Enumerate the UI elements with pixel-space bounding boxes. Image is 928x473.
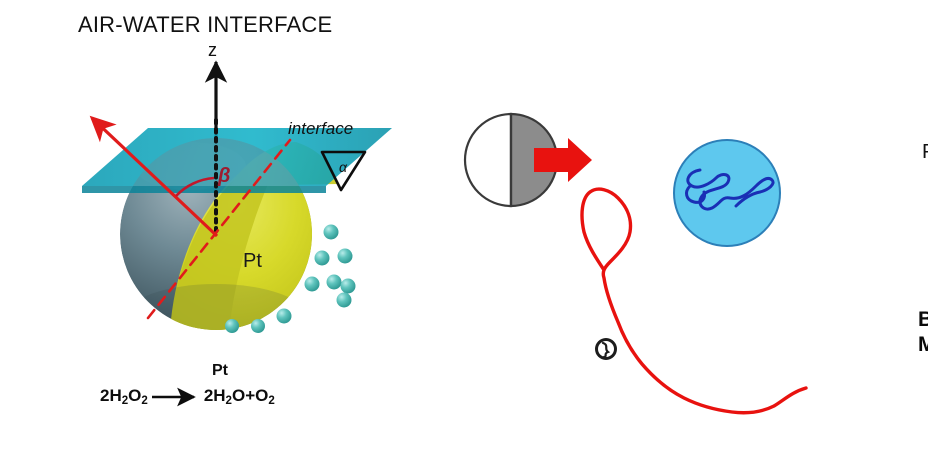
label-brownian-line1: BROWNIAN [918,308,928,333]
figure-canvas: AIR-WATER INTERFACE z [0,0,928,473]
label-brownian-motion: BROWNIAN MOTION [918,308,928,358]
bulk-medium-circle [674,140,780,246]
right-panel-motion-modes: Pt ACTIVE MOTION IN BULK ACTIVE MOTION A… [452,0,928,473]
brownian-motion-icon [595,338,617,360]
janus-particle-label: Pt [922,141,928,164]
motion-modes-artwork [0,0,928,473]
label-brownian-line2: MOTION [918,333,928,358]
